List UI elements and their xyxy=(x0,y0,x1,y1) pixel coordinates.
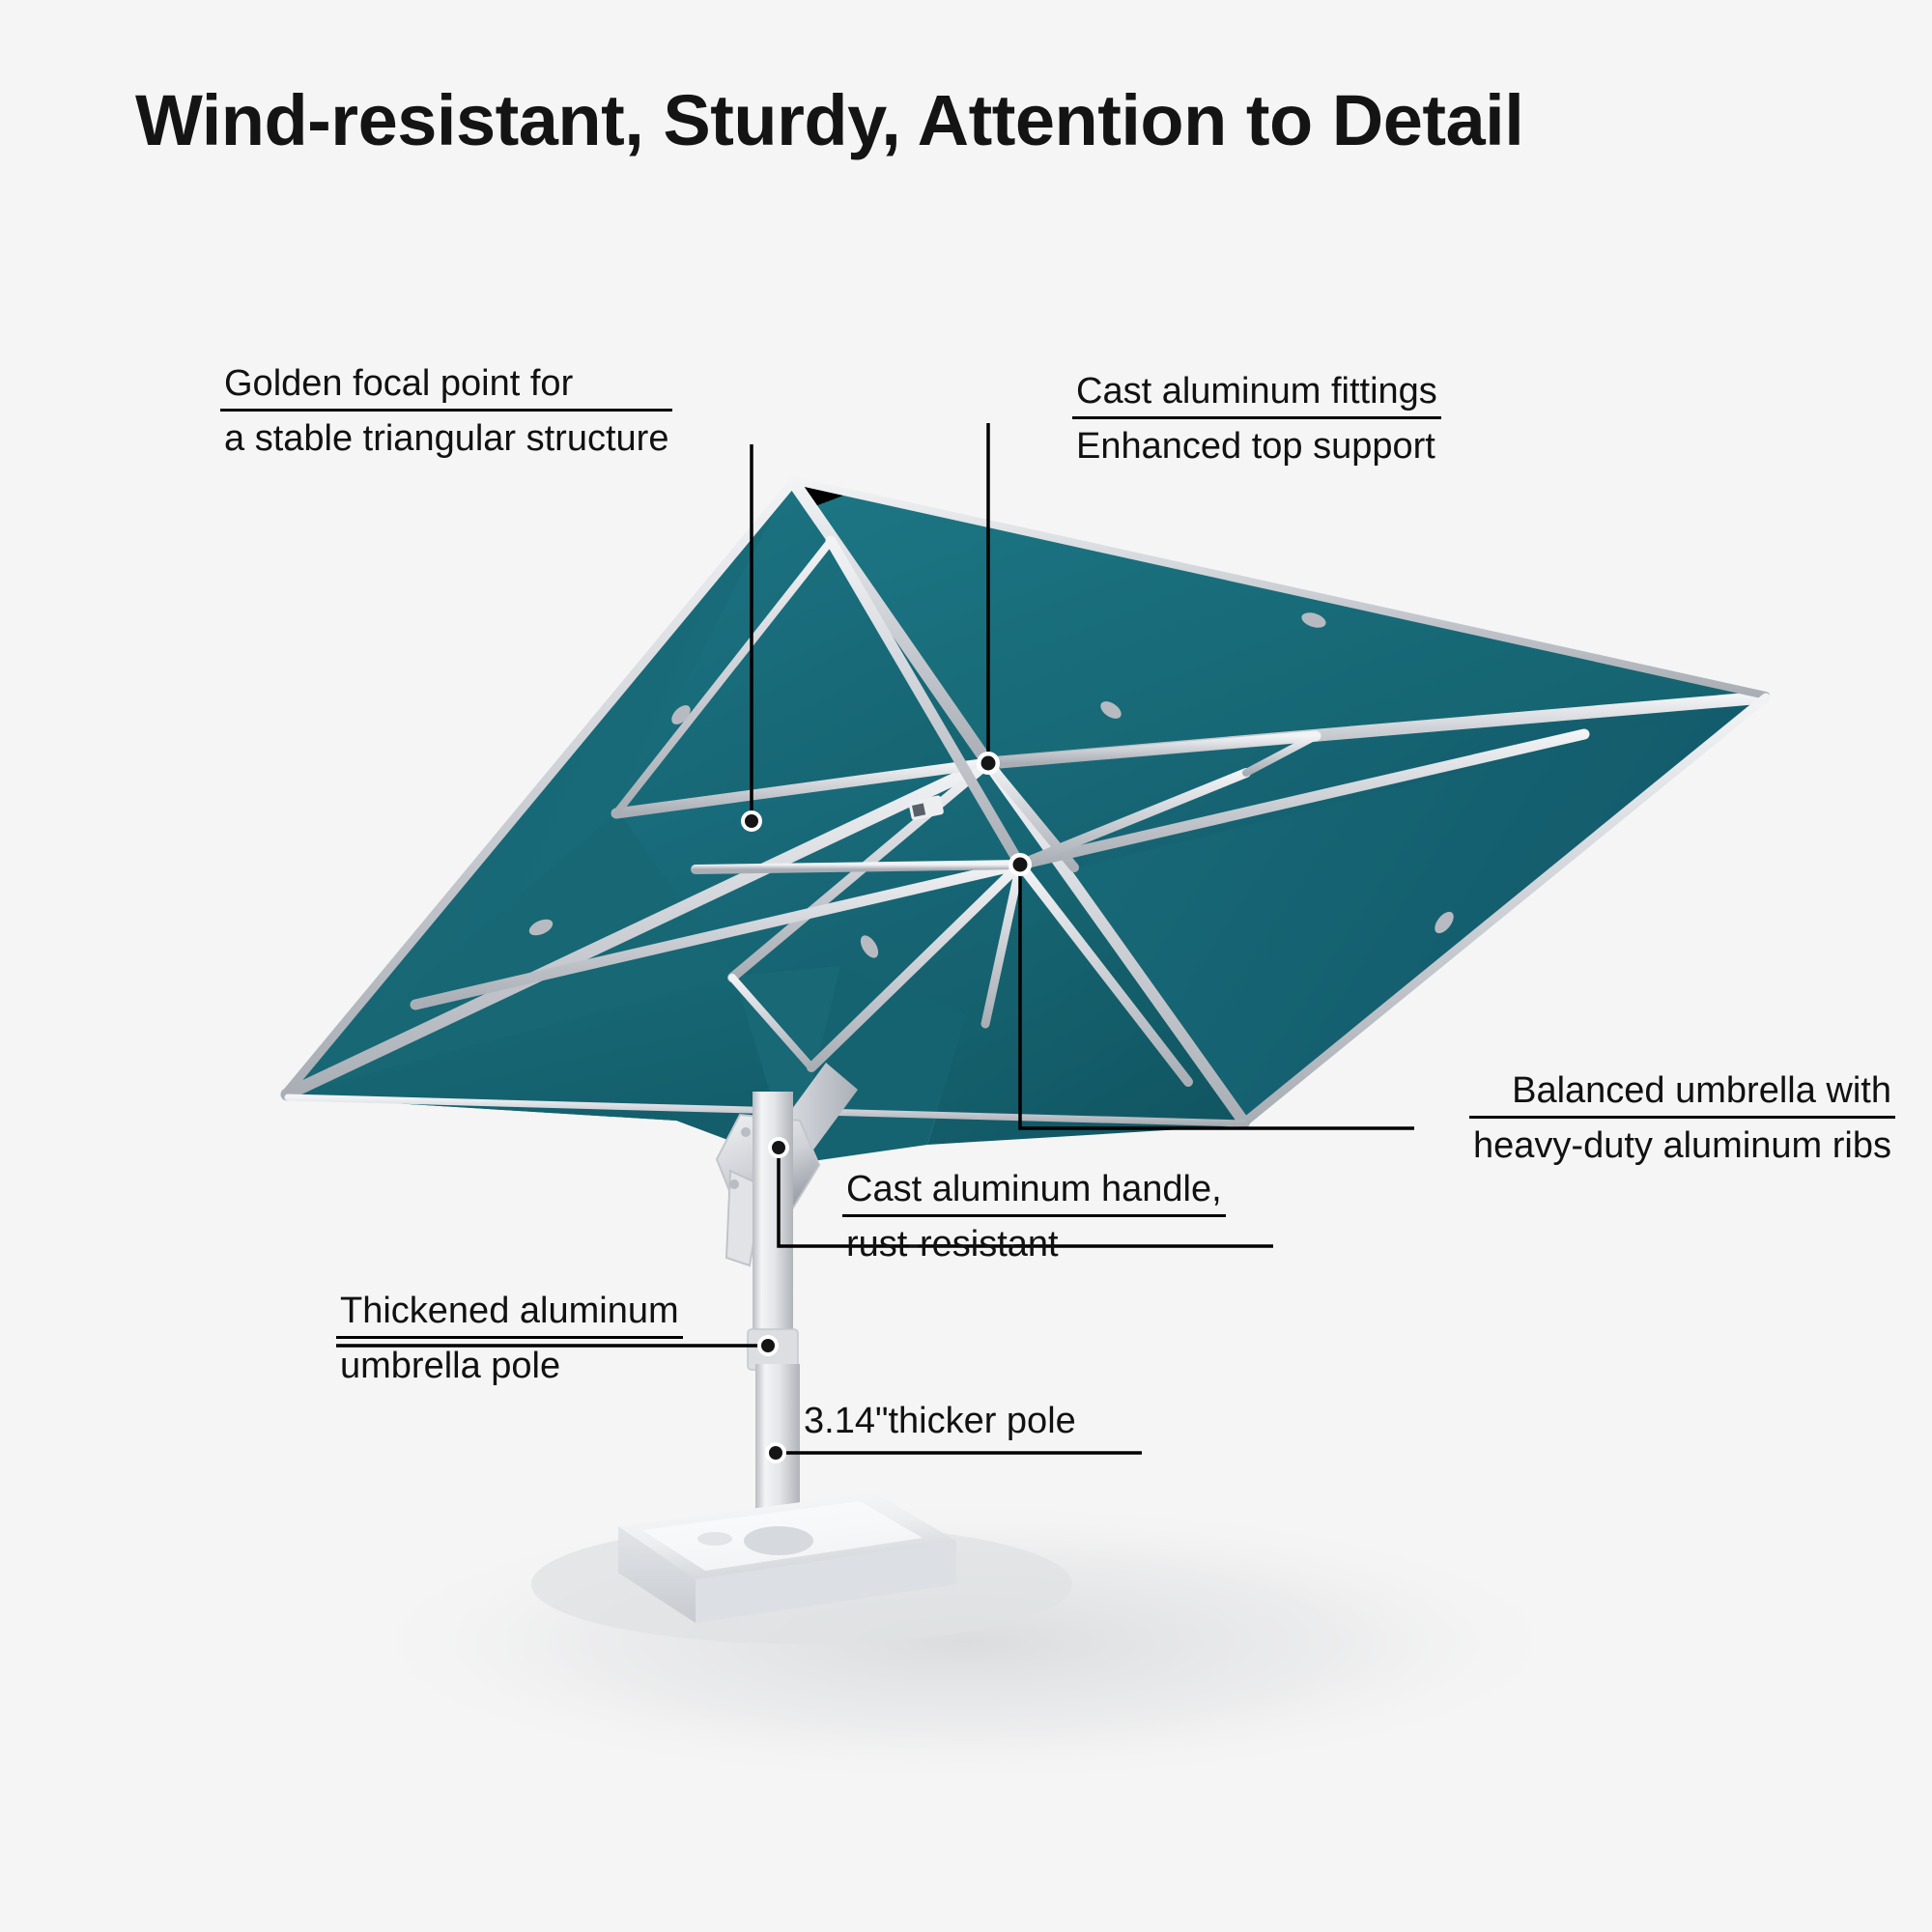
callout-golden-focal-point-line2: a stable triangular structure xyxy=(220,412,672,457)
callout-cast-aluminum-handle-line1: Cast aluminum handle, xyxy=(842,1171,1226,1217)
callout-balanced-umbrella: Balanced umbrella with heavy-duty alumin… xyxy=(1469,1072,1895,1164)
callout-cast-aluminum-fittings-line1: Cast aluminum fittings xyxy=(1072,373,1441,419)
callout-golden-focal-point-line1: Golden focal point for xyxy=(220,365,672,412)
callout-thickened-aluminum-pole: Thickened aluminum umbrella pole xyxy=(336,1293,683,1384)
callout-thicker-pole-line1: 3.14"thicker pole xyxy=(800,1403,1080,1446)
leader-dot-balanced-umbrella-core xyxy=(1013,858,1028,872)
infographic-page: Wind-resistant, Sturdy, Attention to Det… xyxy=(0,0,1932,1932)
callout-balanced-umbrella-line1: Balanced umbrella with xyxy=(1469,1072,1895,1119)
leader-endpoint-dots xyxy=(741,752,1032,1463)
leader-line-layer xyxy=(0,0,1932,1932)
callout-cast-aluminum-handle: Cast aluminum handle, rust-resistant xyxy=(842,1171,1226,1263)
callout-thickened-aluminum-pole-line1: Thickened aluminum xyxy=(336,1293,683,1339)
callout-thicker-pole: 3.14"thicker pole xyxy=(800,1403,1080,1446)
callout-cast-aluminum-fittings: Cast aluminum fittings Enhanced top supp… xyxy=(1072,373,1441,465)
callout-golden-focal-point: Golden focal point for a stable triangul… xyxy=(220,365,672,457)
leader-balanced-umbrella xyxy=(1020,865,1414,1128)
callout-thickened-aluminum-pole-line2: umbrella pole xyxy=(336,1339,683,1384)
leader-dot-thicker-pole-core xyxy=(769,1446,782,1460)
leader-dot-cast-aluminum-handle-core xyxy=(772,1141,785,1154)
leader-dot-cast-aluminum-fittings-core xyxy=(981,756,996,771)
callout-balanced-umbrella-line2: heavy-duty aluminum ribs xyxy=(1469,1119,1895,1164)
callout-cast-aluminum-handle-line2: rust-resistant xyxy=(842,1217,1226,1263)
leader-dot-golden-focal-point-core xyxy=(745,814,758,828)
leader-dot-thickened-aluminum-pole-core xyxy=(761,1339,775,1352)
callout-cast-aluminum-fittings-line2: Enhanced top support xyxy=(1072,419,1441,465)
